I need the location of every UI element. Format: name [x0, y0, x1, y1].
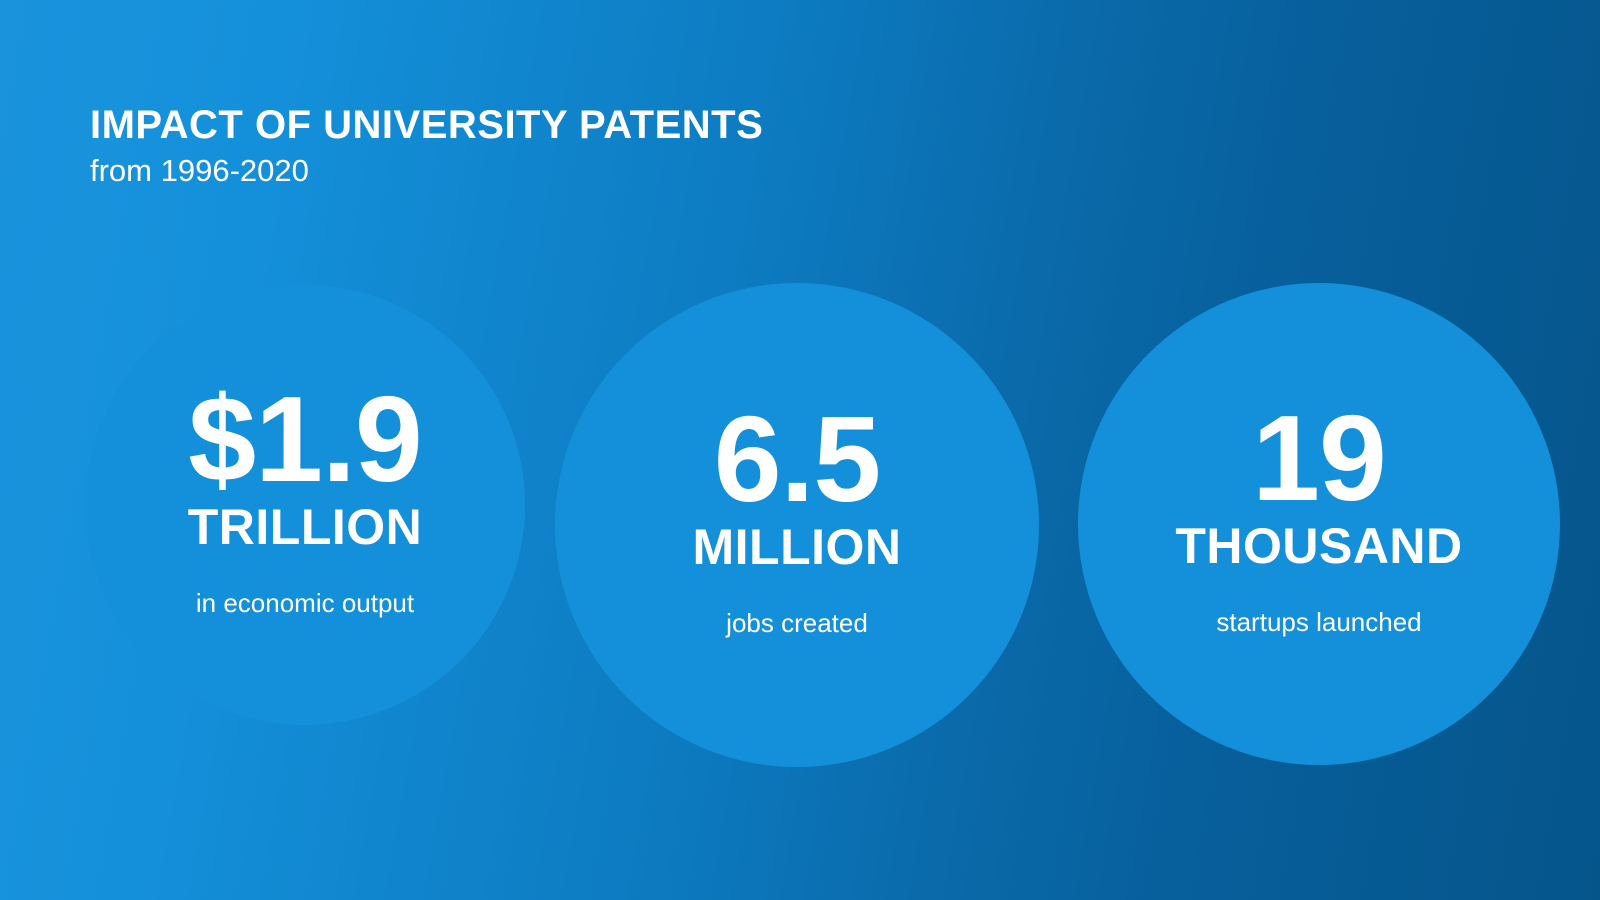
infographic-stage: IMPACT OF UNIVERSITY PATENTS from 1996-2…	[0, 0, 1600, 900]
stat-circle-startups-launched: 19 THOUSAND startups launched	[1078, 283, 1560, 765]
stat-circle-jobs-created: 6.5 MILLION jobs created	[555, 283, 1039, 767]
stat-circle-economic-output: $1.9 TRILLION in economic output	[85, 285, 525, 725]
stat-unit: MILLION	[555, 522, 1039, 573]
stat-content: $1.9 TRILLION in economic output	[85, 381, 525, 618]
stat-description: startups launched	[1078, 608, 1560, 637]
stat-value: 6.5	[555, 401, 1039, 518]
stat-content: 19 THOUSAND startups launched	[1078, 400, 1560, 637]
stat-circle-row: $1.9 TRILLION in economic output 6.5 MIL…	[0, 0, 1600, 900]
stat-content: 6.5 MILLION jobs created	[555, 401, 1039, 638]
stat-value: $1.9	[85, 381, 525, 498]
stat-value: 19	[1078, 400, 1560, 517]
stat-unit: TRILLION	[85, 502, 525, 553]
stat-unit: THOUSAND	[1078, 521, 1560, 572]
stat-description: jobs created	[555, 609, 1039, 638]
stat-description: in economic output	[85, 589, 525, 618]
